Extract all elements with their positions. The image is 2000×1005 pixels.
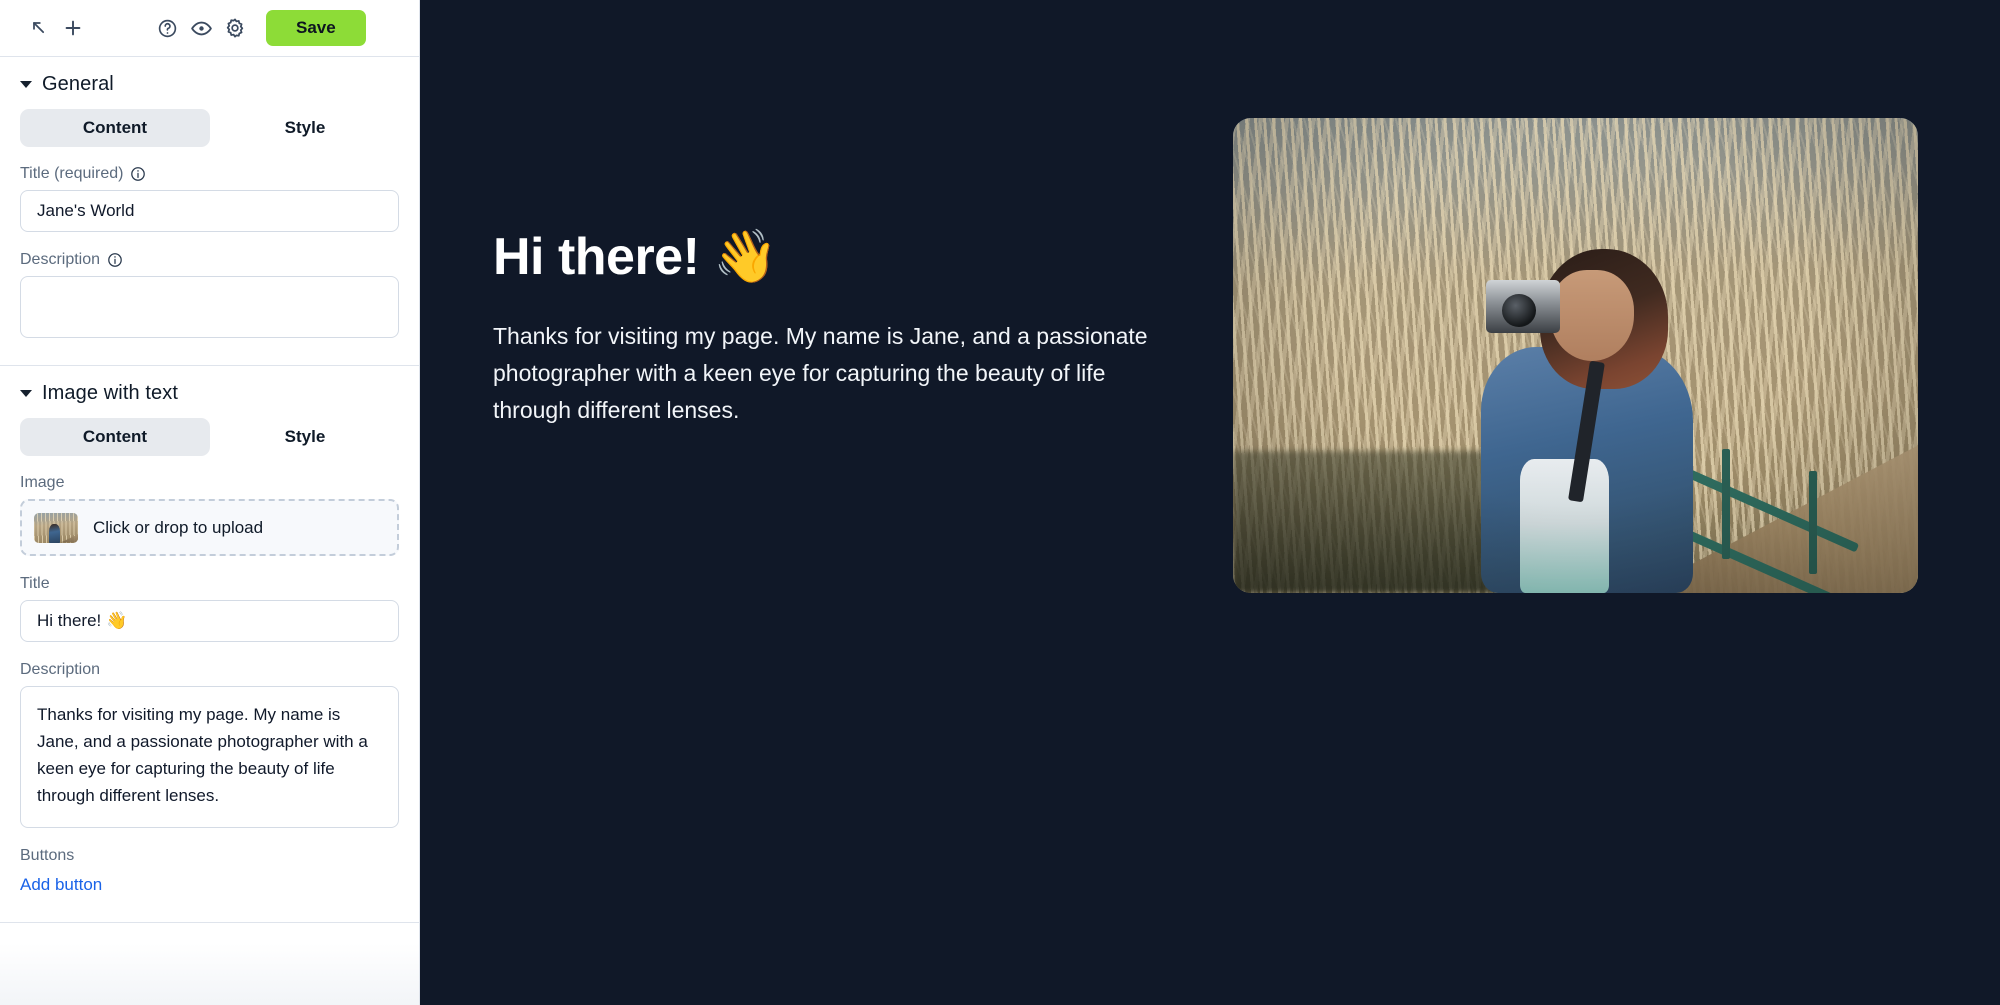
info-icon[interactable] bbox=[107, 252, 123, 268]
hero-heading: Hi there! 👋 bbox=[493, 228, 1183, 288]
image-description-label: Description bbox=[20, 661, 399, 679]
top-toolbar: Save bbox=[0, 0, 419, 57]
editor-sidebar: Save General Content Style Title (requir… bbox=[0, 0, 420, 1005]
image-title-field: Title Hi there! 👋 bbox=[20, 575, 399, 642]
buttons-label-text: Buttons bbox=[20, 847, 74, 865]
help-circle-icon[interactable] bbox=[150, 11, 184, 45]
editor-app: Save General Content Style Title (requir… bbox=[0, 0, 2000, 1005]
section-image-with-text-title: Image with text bbox=[42, 382, 178, 405]
tab-general-content[interactable]: Content bbox=[20, 109, 210, 147]
section-general: General Content Style Title (required) bbox=[0, 57, 419, 366]
image-upload-field: Image Click or drop to upload bbox=[20, 474, 399, 556]
general-tabs: Content Style bbox=[20, 109, 399, 147]
add-button-link[interactable]: Add button bbox=[20, 875, 102, 895]
plus-icon[interactable] bbox=[56, 11, 90, 45]
info-icon[interactable] bbox=[130, 166, 146, 182]
image-title-label: Title bbox=[20, 575, 399, 593]
image-label: Image bbox=[20, 474, 399, 492]
image-dropzone[interactable]: Click or drop to upload bbox=[20, 499, 399, 556]
buttons-label: Buttons bbox=[20, 847, 399, 865]
general-description-label-text: Description bbox=[20, 251, 100, 269]
section-image-with-text: Image with text Content Style Image bbox=[0, 366, 419, 923]
chevron-down-icon bbox=[20, 81, 32, 88]
general-description-field: Description bbox=[20, 251, 399, 338]
page-preview: Hi there! 👋 Thanks for visiting my page.… bbox=[420, 0, 2000, 1005]
tab-general-style[interactable]: Style bbox=[210, 109, 400, 147]
hero-heading-text: Hi there! bbox=[493, 228, 699, 288]
image-with-text-tabs: Content Style bbox=[20, 418, 399, 456]
image-description-label-text: Description bbox=[20, 661, 100, 679]
waving-hand-icon: 👋 bbox=[713, 228, 777, 288]
hero-image bbox=[1233, 118, 1918, 593]
hero-body-text: Thanks for visiting my page. My name is … bbox=[493, 318, 1183, 429]
section-image-with-text-header[interactable]: Image with text bbox=[20, 382, 399, 405]
scroll-fade bbox=[0, 943, 419, 1005]
image-label-text: Image bbox=[20, 474, 64, 492]
general-title-field: Title (required) Jane's World bbox=[20, 165, 399, 232]
buttons-field: Buttons Add button bbox=[20, 847, 399, 895]
hero-text-block: Hi there! 👋 Thanks for visiting my page.… bbox=[493, 118, 1183, 593]
image-description-field: Description Thanks for visiting my page.… bbox=[20, 661, 399, 828]
image-thumbnail bbox=[34, 513, 78, 543]
image-description-textarea[interactable]: Thanks for visiting my page. My name is … bbox=[20, 686, 399, 828]
general-title-label: Title (required) bbox=[20, 165, 399, 183]
general-description-label: Description bbox=[20, 251, 399, 269]
general-title-label-text: Title (required) bbox=[20, 165, 123, 183]
select-arrow-icon[interactable] bbox=[22, 11, 56, 45]
general-description-input[interactable] bbox=[20, 276, 399, 338]
section-general-title: General bbox=[42, 73, 114, 96]
image-title-label-text: Title bbox=[20, 575, 50, 593]
chevron-down-icon bbox=[20, 390, 32, 397]
save-button[interactable]: Save bbox=[266, 10, 366, 46]
hero-section: Hi there! 👋 Thanks for visiting my page.… bbox=[420, 0, 2000, 593]
tab-image-style[interactable]: Style bbox=[210, 418, 400, 456]
dropzone-label: Click or drop to upload bbox=[93, 518, 263, 538]
eye-icon[interactable] bbox=[184, 11, 218, 45]
section-general-header[interactable]: General bbox=[20, 73, 399, 96]
image-title-input[interactable]: Hi there! 👋 bbox=[20, 600, 399, 642]
general-title-input[interactable]: Jane's World bbox=[20, 190, 399, 232]
tab-image-content[interactable]: Content bbox=[20, 418, 210, 456]
settings-scroll-area: General Content Style Title (required) bbox=[0, 57, 419, 1005]
photographer-photo bbox=[1233, 118, 1918, 593]
gear-icon[interactable] bbox=[218, 11, 252, 45]
